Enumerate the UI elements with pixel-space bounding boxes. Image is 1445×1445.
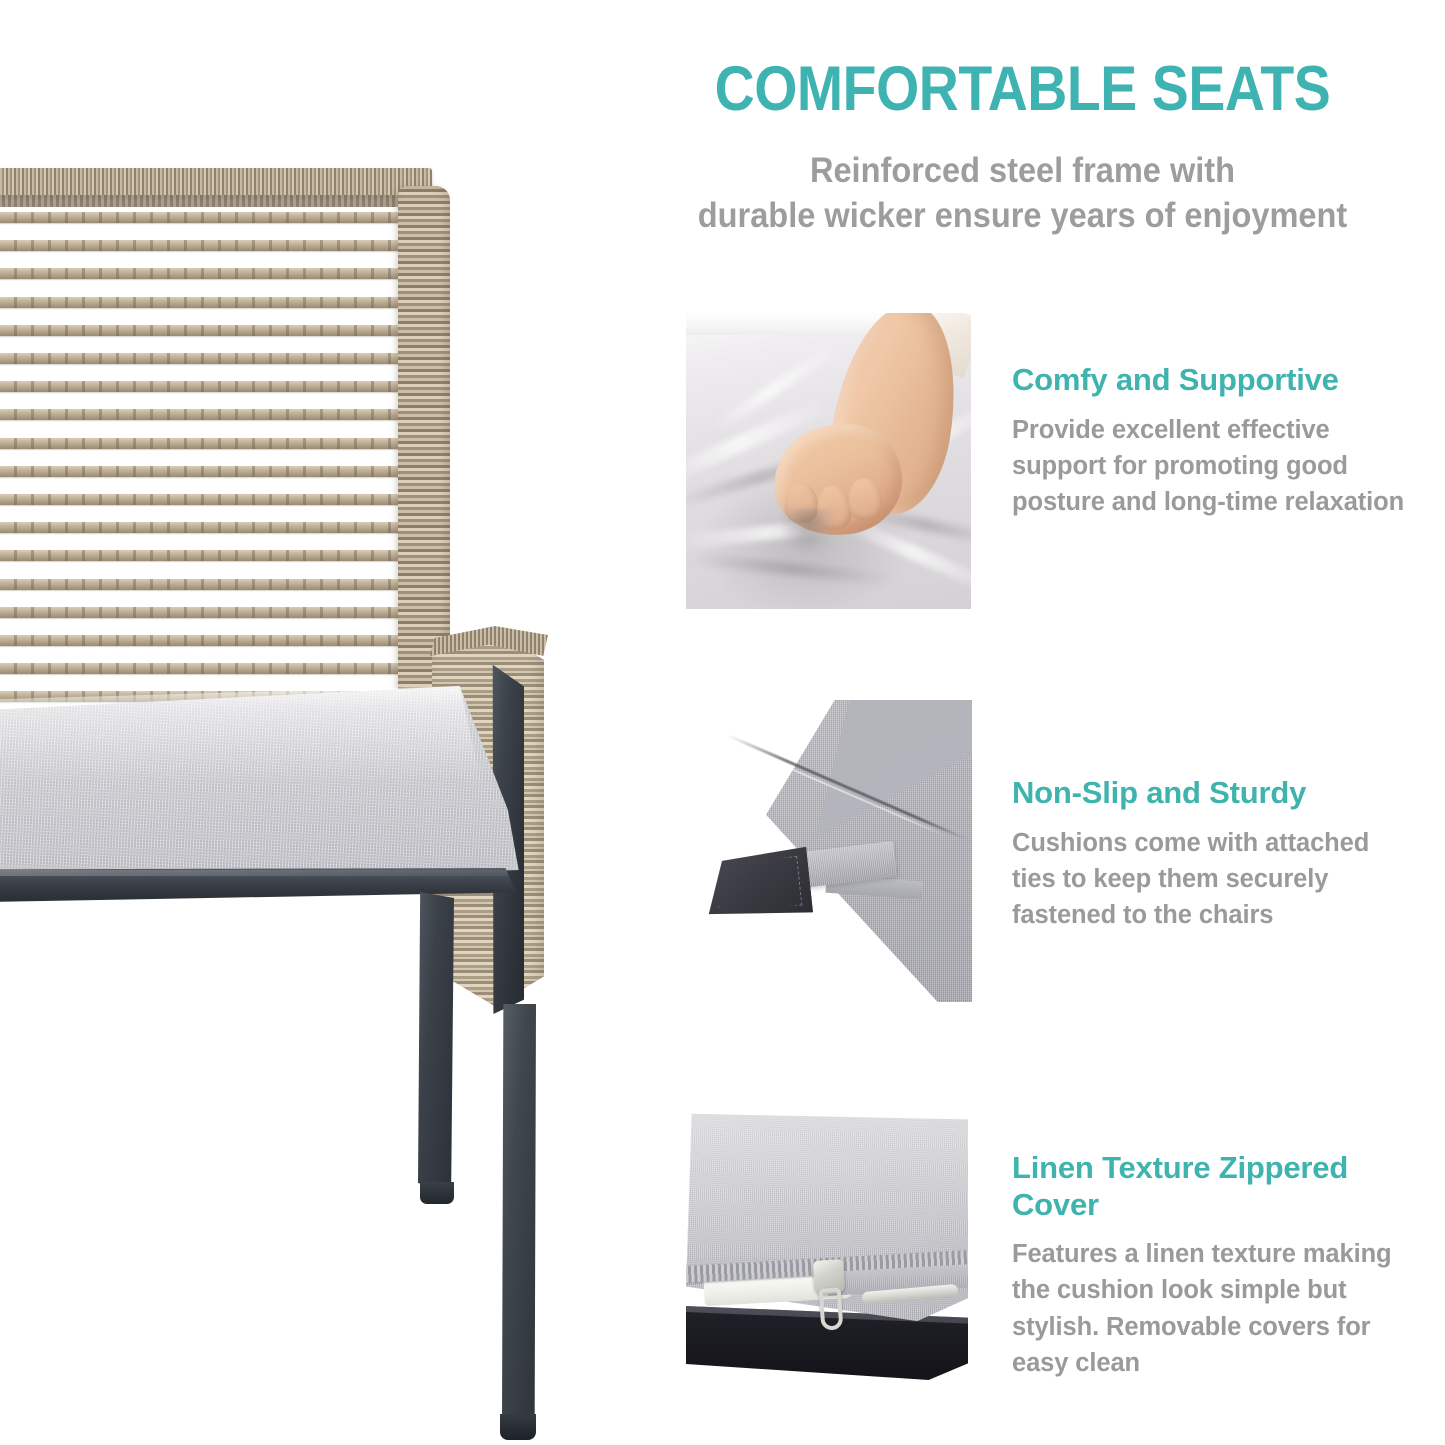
backrest-slat [0, 325, 420, 336]
backrest-slat [0, 607, 415, 618]
knuckle [846, 477, 884, 522]
backrest-slat [0, 438, 418, 449]
feature-3-image [686, 1108, 968, 1396]
feature-1-heading: Comfy and Supportive [1012, 362, 1412, 399]
feature-2-heading: Non-Slip and Sturdy [1012, 775, 1412, 812]
seat-cushion-highlight [0, 686, 524, 782]
backrest-slat [0, 466, 417, 477]
backrest-top-rail-shadow [0, 195, 428, 207]
backrest-rope-slats [0, 212, 422, 748]
feature-3-body: Features a linen texture making the cush… [1012, 1236, 1417, 1381]
backrest-slat [0, 635, 414, 646]
backrest-slat [0, 353, 419, 364]
feature-3-heading: Linen Texture Zippered Cover [1012, 1150, 1417, 1223]
steel-leg-rear-foot [500, 1414, 536, 1440]
steel-leg-rear [502, 1004, 536, 1422]
steel-leg-front-foot [420, 1182, 454, 1204]
backrest-top-rail [0, 168, 432, 198]
backrest-slat [0, 268, 421, 279]
cushion-indentation [782, 509, 834, 551]
page-title: COMFORTABLE SEATS [651, 58, 1395, 121]
feature-3-text: Linen Texture Zippered Cover Features a … [1012, 1150, 1417, 1381]
steel-rail-highlight [0, 870, 508, 876]
header-block: COMFORTABLE SEATS Reinforced steel frame… [600, 58, 1445, 239]
backrest-slat [0, 579, 415, 590]
page-subtitle: Reinforced steel frame with durable wick… [630, 149, 1416, 239]
feature-1-image [686, 313, 971, 609]
backrest-slat [0, 297, 420, 308]
product-photo-wicker-sofa [0, 168, 600, 1288]
infographic-page: COMFORTABLE SEATS Reinforced steel frame… [0, 0, 1445, 1445]
backrest-slat [0, 522, 416, 533]
backrest-slat [0, 240, 421, 251]
cushion-highlight [686, 1108, 968, 1258]
feature-1-text: Comfy and Supportive Provide excellent e… [1012, 362, 1412, 520]
subtitle-line-2: durable wicker ensure years of enjoyment [630, 194, 1416, 239]
backrest-slat [0, 212, 422, 223]
backrest-slat [0, 494, 417, 505]
steel-leg-front [418, 892, 454, 1192]
backrest-slat [0, 381, 419, 392]
feature-1-body: Provide excellent effective support for … [1012, 412, 1412, 521]
backrest-slat [0, 550, 416, 561]
subtitle-line-1: Reinforced steel frame with [630, 149, 1416, 194]
backrest-slat [0, 409, 418, 420]
feature-2-text: Non-Slip and Sturdy Cushions come with a… [1012, 775, 1412, 933]
backrest-slat [0, 663, 414, 674]
feature-2-image [686, 700, 972, 1002]
zipper-pull [819, 1287, 844, 1330]
feature-2-body: Cushions come with attached ties to keep… [1012, 825, 1412, 934]
